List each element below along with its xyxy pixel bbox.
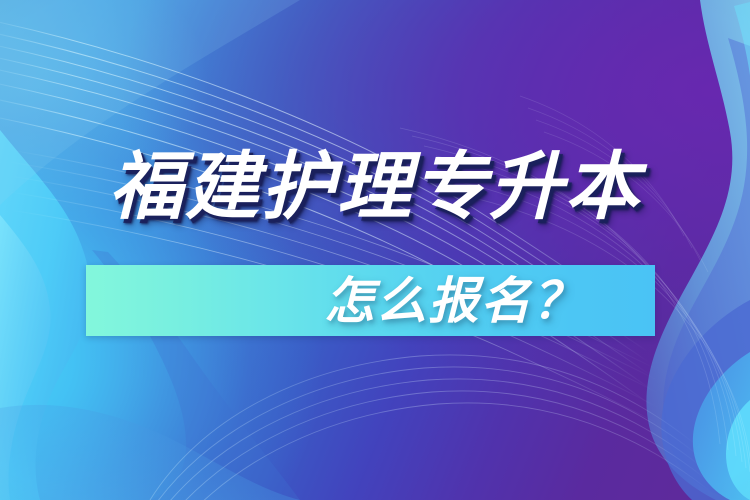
banner-headline: 福建护理专升本 bbox=[0, 150, 750, 224]
promo-banner: 福建护理专升本 怎么报名？ bbox=[0, 0, 750, 500]
banner-subtitle: 怎么报名？ bbox=[86, 265, 655, 336]
banner-content: 福建护理专升本 怎么报名？ bbox=[0, 0, 750, 500]
